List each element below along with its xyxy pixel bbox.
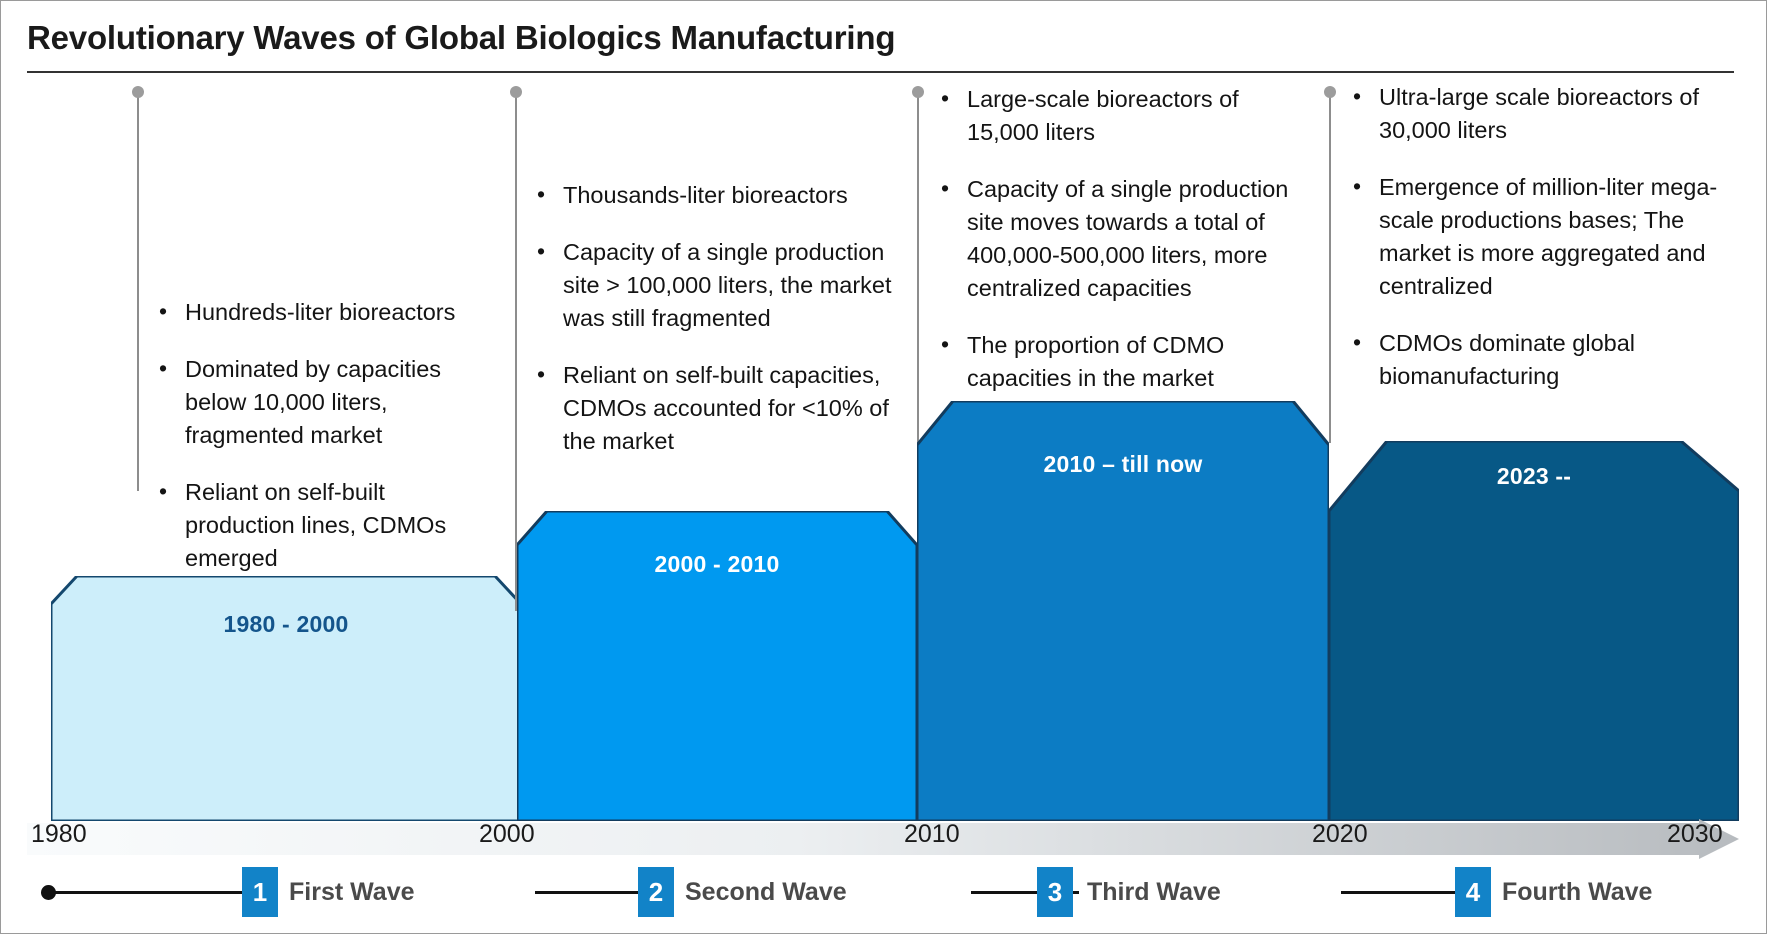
wave-1-band-shape bbox=[51, 576, 521, 821]
page-title: Revolutionary Waves of Global Biologics … bbox=[27, 19, 1739, 57]
wave-2-band-shape bbox=[517, 511, 917, 821]
legend-badge-2[interactable]: 2 bbox=[638, 867, 674, 917]
infographic-slide: Revolutionary Waves of Global Biologics … bbox=[0, 0, 1767, 934]
legend-label-second-wave[interactable]: Second Wave bbox=[685, 878, 847, 907]
wave-3: Large-scale bioreactors of 15,000 liters… bbox=[917, 91, 1329, 821]
bullet-item: Hundreds-liter bioreactors bbox=[155, 296, 495, 329]
bullet-item: Large-scale bioreactors of 15,000 liters bbox=[937, 83, 1307, 149]
axis-tick-1980: 1980 bbox=[31, 820, 87, 849]
axis-tick-2000: 2000 bbox=[479, 820, 535, 849]
legend-badge-1[interactable]: 1 bbox=[242, 867, 278, 917]
wave-4-bullets: Ultra-large scale bioreactors of 30,000 … bbox=[1349, 81, 1719, 417]
wave-1-connector bbox=[137, 91, 139, 491]
bullet-item: Capacity of a single production site > 1… bbox=[533, 236, 893, 335]
timeline-axis: 1980 2000 2010 2020 2030 bbox=[27, 819, 1739, 865]
bullet-item: Dominated by capacities below 10,000 lit… bbox=[155, 353, 495, 452]
wave-1: Hundreds-liter bioreactors Dominated by … bbox=[27, 91, 497, 821]
axis-tick-2020: 2020 bbox=[1312, 820, 1368, 849]
wave-2: Thousands-liter bioreactors Capacity of … bbox=[497, 91, 917, 821]
bullet-item: CDMOs dominate global biomanufacturing bbox=[1349, 327, 1719, 393]
wave-4-connector bbox=[1329, 91, 1331, 443]
legend-label-first-wave[interactable]: First Wave bbox=[289, 878, 415, 907]
wave-4: Ultra-large scale bioreactors of 30,000 … bbox=[1329, 91, 1741, 821]
bullet-item: Reliant on self-built capacities, CDMOs … bbox=[533, 359, 893, 458]
wave-2-band: 2000 - 2010 bbox=[517, 511, 917, 821]
legend: 1 First Wave 2 Second Wave 3 Third Wave … bbox=[27, 863, 1739, 921]
bullet-item: Thousands-liter bioreactors bbox=[533, 179, 893, 212]
legend-badge-4[interactable]: 4 bbox=[1455, 867, 1491, 917]
wave-3-band-shape bbox=[917, 401, 1329, 821]
wave-3-bullets: Large-scale bioreactors of 15,000 liters… bbox=[937, 83, 1307, 452]
wave-1-band: 1980 - 2000 bbox=[51, 576, 521, 821]
wave-3-band: 2010 – till now bbox=[917, 401, 1329, 821]
wave-1-bullets: Hundreds-liter bioreactors Dominated by … bbox=[155, 296, 495, 599]
title-divider bbox=[27, 71, 1734, 73]
axis-arrow-bar bbox=[27, 819, 1739, 859]
legend-dot-start bbox=[41, 885, 56, 900]
legend-label-fourth-wave[interactable]: Fourth Wave bbox=[1502, 878, 1652, 907]
bullet-item: Ultra-large scale bioreactors of 30,000 … bbox=[1349, 81, 1719, 147]
wave-2-bullets: Thousands-liter bioreactors Capacity of … bbox=[533, 179, 893, 482]
legend-badge-3[interactable]: 3 bbox=[1037, 867, 1073, 917]
legend-label-third-wave[interactable]: Third Wave bbox=[1087, 878, 1221, 907]
title-block: Revolutionary Waves of Global Biologics … bbox=[27, 19, 1739, 73]
bullet-item: Capacity of a single production site mov… bbox=[937, 173, 1307, 305]
wave-4-band: 2023 -- bbox=[1329, 441, 1739, 821]
axis-tick-2030: 2030 bbox=[1667, 820, 1723, 849]
axis-tick-2010: 2010 bbox=[904, 820, 960, 849]
wave-4-band-shape bbox=[1329, 441, 1739, 821]
waves-container: Hundreds-liter bioreactors Dominated by … bbox=[1, 91, 1767, 821]
bullet-item: Reliant on self-built production lines, … bbox=[155, 476, 495, 575]
bullet-item: Emergence of million-liter mega-scale pr… bbox=[1349, 171, 1719, 303]
